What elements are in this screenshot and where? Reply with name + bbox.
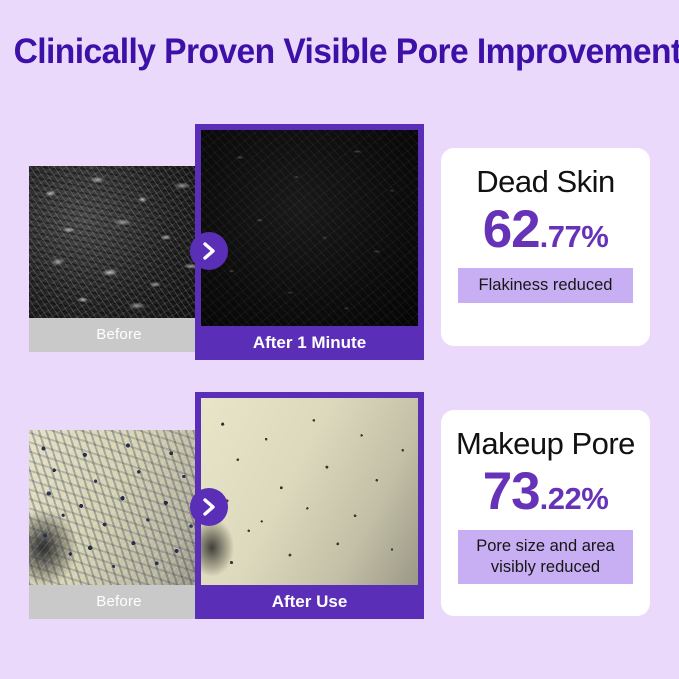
stat-value-makeup-pore: 73.22% bbox=[441, 465, 650, 518]
stat-value-fraction-makeup-pore: .22% bbox=[540, 481, 609, 516]
after-block-dead-skin: After 1 Minute bbox=[195, 124, 424, 360]
before-caption-dead-skin: Before bbox=[29, 318, 209, 352]
stat-badge-dead-skin: Flakiness reduced bbox=[458, 268, 633, 303]
stat-value-whole-makeup-pore: 73 bbox=[483, 462, 540, 521]
stat-badge-line: Pore size and area bbox=[462, 536, 629, 557]
after-block-makeup-pore: After Use bbox=[195, 392, 424, 619]
after-caption-dead-skin: After 1 Minute bbox=[201, 326, 418, 360]
after-photo-makeup-pore bbox=[201, 398, 418, 585]
before-photo-makeup-pore bbox=[29, 430, 209, 585]
before-block-dead-skin: Before bbox=[29, 166, 209, 352]
before-block-makeup-pore: Before bbox=[29, 430, 209, 619]
before-caption-makeup-pore: Before bbox=[29, 585, 209, 619]
stat-badge-line: visibly reduced bbox=[462, 557, 629, 578]
chevron-right-icon bbox=[190, 232, 228, 270]
stat-label-makeup-pore: Makeup Pore bbox=[441, 428, 650, 461]
after-caption-makeup-pore: After Use bbox=[201, 585, 418, 619]
before-photo-dead-skin bbox=[29, 166, 209, 318]
page-title: Clinically Proven Visible Pore Improveme… bbox=[14, 32, 666, 72]
chevron-right-icon bbox=[190, 488, 228, 526]
stat-card-dead-skin: Dead Skin 62.77% Flakiness reduced bbox=[441, 148, 650, 346]
stat-badge-line: Flakiness reduced bbox=[462, 275, 629, 296]
after-photo-dead-skin bbox=[201, 130, 418, 326]
stat-value-whole-dead-skin: 62 bbox=[483, 200, 540, 259]
stat-badge-makeup-pore: Pore size and area visibly reduced bbox=[458, 530, 633, 585]
stat-value-dead-skin: 62.77% bbox=[441, 203, 650, 256]
stat-value-fraction-dead-skin: .77% bbox=[540, 219, 609, 254]
stat-label-dead-skin: Dead Skin bbox=[441, 166, 650, 199]
stat-card-makeup-pore: Makeup Pore 73.22% Pore size and area vi… bbox=[441, 410, 650, 616]
